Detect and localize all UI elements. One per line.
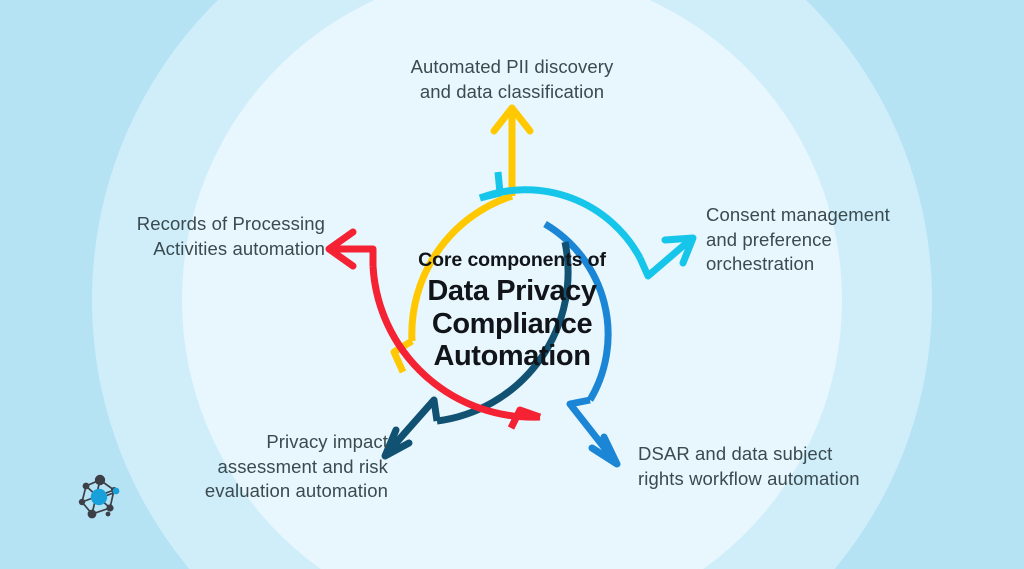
center-text-block: Core components of Data Privacy Complian… [392, 249, 632, 373]
logo-accent-node [91, 489, 107, 505]
segment-shaft-privacy-impact-assessment [388, 400, 437, 452]
label-dsar-workflow: DSAR and data subject rights workflow au… [638, 442, 900, 491]
label-pii-discovery: Automated PII discovery and data classif… [376, 55, 648, 104]
network-nodes-logo [70, 468, 130, 528]
center-kicker: Core components of [392, 249, 632, 272]
label-consent-management: Consent management and preference orches… [706, 203, 921, 277]
label-records-of-processing: Records of Processing Activities automat… [110, 212, 325, 261]
logo-accent-node-small [113, 488, 120, 495]
center-title: Data Privacy Compliance Automation [392, 275, 632, 372]
label-privacy-impact-assessment: Privacy impact assessment and risk evalu… [178, 430, 388, 504]
infographic-canvas: Automated PII discovery and data classif… [0, 0, 1024, 569]
